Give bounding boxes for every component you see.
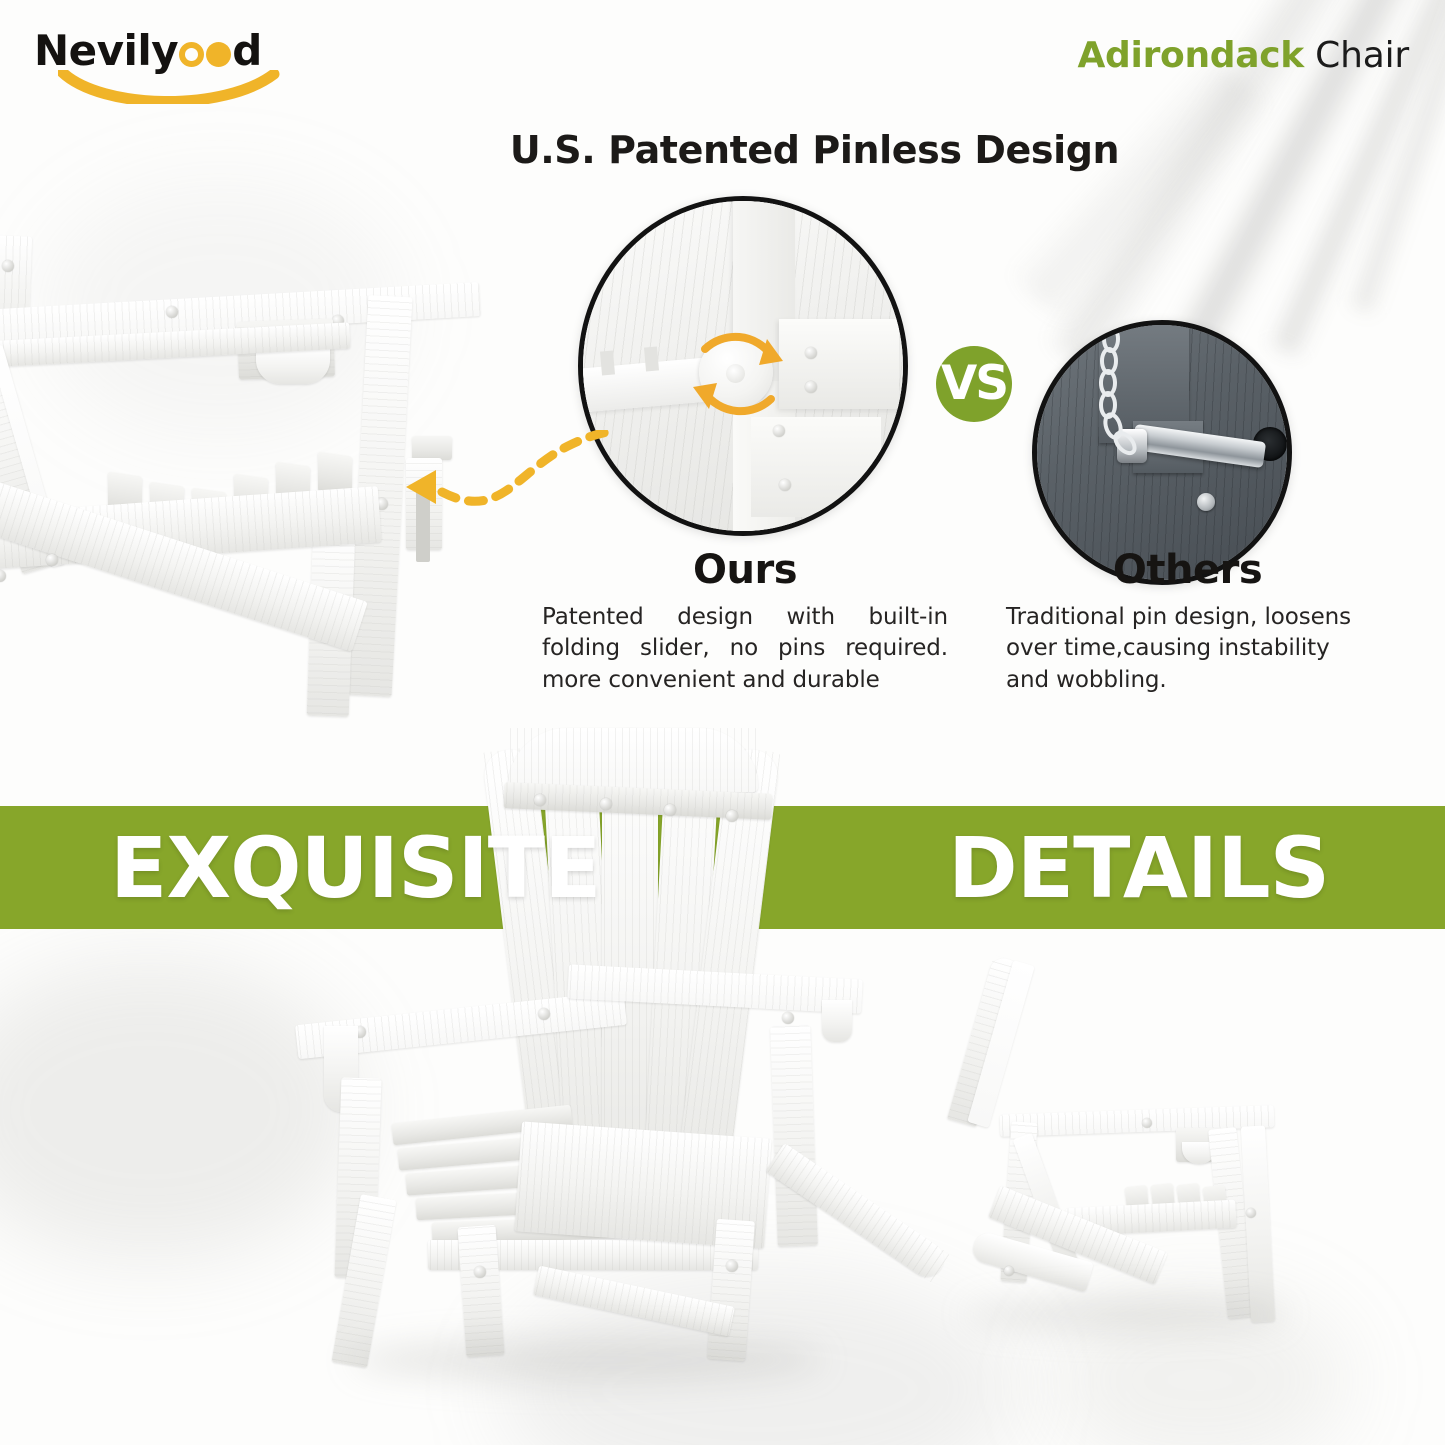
product-title: Adirondack Chair (1078, 38, 1410, 74)
logo-o-ring-icon (179, 42, 204, 67)
chain-icon (1077, 320, 1197, 481)
brand-logo-text-part2: d (232, 26, 262, 75)
ours-description: Patented design with built-in folding sl… (520, 602, 970, 696)
others-title: Others (1000, 548, 1375, 592)
others-detail-circle (1032, 320, 1292, 585)
adirondack-chair-front-photo (282, 726, 892, 1366)
screw-icon (1197, 493, 1215, 511)
logo-swoosh-icon (58, 70, 288, 104)
ours-detail-circle (578, 196, 908, 536)
dashed-callout-arrow-icon (390, 430, 620, 560)
section-heading-text: U.S. Patented Pinless Design (510, 128, 1119, 172)
brand-logo-text-part1: Nevily (34, 26, 178, 75)
rotation-arrows-icon (675, 311, 801, 437)
others-caption: Others Traditional pin design, loosens o… (1000, 548, 1375, 696)
others-description: Traditional pin design, loosens over tim… (1000, 602, 1375, 696)
ours-caption: Ours Patented design with built-in foldi… (520, 548, 970, 696)
vs-badge: VS (932, 342, 1016, 426)
vs-badge-label: VS (932, 342, 1016, 426)
palm-frond-shadow (1006, 48, 1274, 331)
section-heading: U.S. Patented Pinless Design (0, 128, 1445, 172)
logo-o-dot-icon (206, 42, 231, 67)
product-title-type: Chair (1304, 35, 1409, 76)
brand-logo[interactable]: Nevilyd (34, 30, 288, 104)
product-title-name: Adirondack (1078, 35, 1304, 76)
brand-logo-wordmark: Nevilyd (34, 30, 288, 72)
ours-title: Ours (520, 548, 970, 592)
product-infographic-page: Nevilyd Adirondack Chair U.S. Patented P… (0, 0, 1445, 1445)
adirondack-chair-folded-side-photo (946, 946, 1316, 1346)
